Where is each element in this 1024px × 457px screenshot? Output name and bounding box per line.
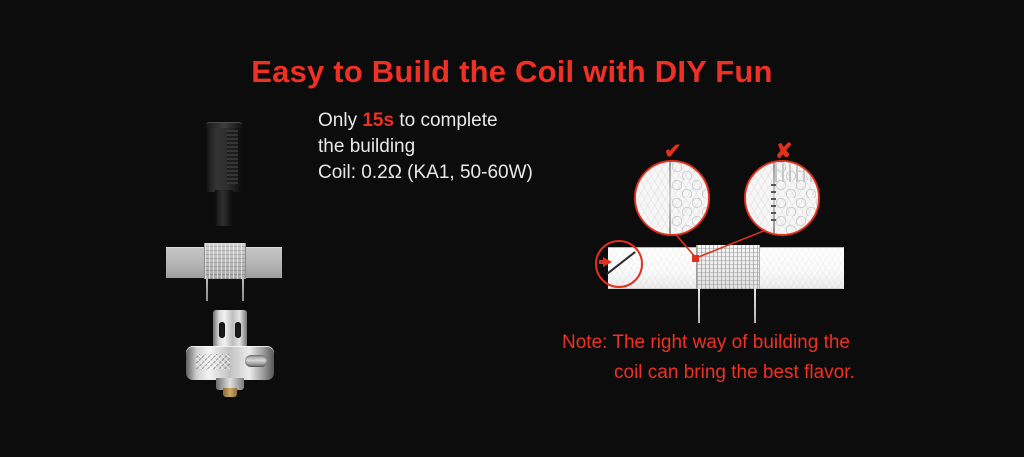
- spec-duration-suffix: to complete: [394, 110, 498, 131]
- chimney-slot-left: [219, 322, 225, 338]
- coil-head-juice-port: [245, 355, 267, 367]
- coil-leg-right: [242, 277, 244, 301]
- magnified-protruding-mesh-teeth: [775, 164, 819, 182]
- coil-head-knurling: [196, 354, 230, 370]
- spec-duration-value: 15s: [362, 110, 394, 131]
- spec-duration-prefix: Only: [318, 110, 362, 131]
- magnified-mesh-edge: [669, 162, 671, 234]
- main-coil-leg-left: [698, 287, 700, 323]
- spec-line-building: the building: [318, 134, 533, 160]
- magnified-honeycomb-mesh: [672, 162, 708, 234]
- coil-building-tool: [206, 122, 242, 226]
- note-line-1: Note: The right way of building the: [562, 332, 850, 353]
- tool-brand-marking: [227, 130, 238, 184]
- cross-icon: ✘: [775, 141, 793, 162]
- note-line-2: coil can bring the best flavor.: [562, 358, 855, 388]
- page-title: Easy to Build the Coil with DIY Fun: [0, 54, 1024, 90]
- main-mesh-coil: [696, 245, 760, 289]
- trim-edge-indicator: [595, 240, 643, 288]
- rba-coil-head: [186, 310, 274, 402]
- magnified-mesh-perforations: [771, 184, 776, 224]
- trim-arrow-icon: [603, 257, 612, 267]
- spec-text-block: Only 15s to complete the building Coil: …: [318, 108, 533, 186]
- magnifier-incorrect-placement: [744, 160, 820, 236]
- spec-line-coil: Coil: 0.2Ω (KA1, 50-60W): [318, 160, 533, 186]
- spec-line-duration: Only 15s to complete: [318, 108, 533, 134]
- product-feature-graphic: Easy to Build the Coil with DIY Fun Only…: [0, 0, 1024, 457]
- main-coil-leg-right: [754, 287, 756, 323]
- chimney-slot-right: [235, 322, 241, 338]
- magnifier-correct-placement: [634, 160, 710, 236]
- leader-junction-dot: [692, 255, 699, 262]
- note-text-block: Note: The right way of building the coil…: [562, 328, 855, 388]
- coil-leg-left: [206, 277, 208, 301]
- main-cotton-strip-assembly: [608, 247, 844, 287]
- mesh-coil: [204, 243, 246, 279]
- coil-head-contact-pin: [223, 388, 237, 397]
- tool-shaft: [215, 190, 233, 226]
- cotton-and-mesh-coil-assembly: [166, 243, 282, 301]
- check-icon: ✔: [664, 141, 682, 162]
- tool-cap: [207, 123, 241, 128]
- tool-body: [206, 122, 242, 192]
